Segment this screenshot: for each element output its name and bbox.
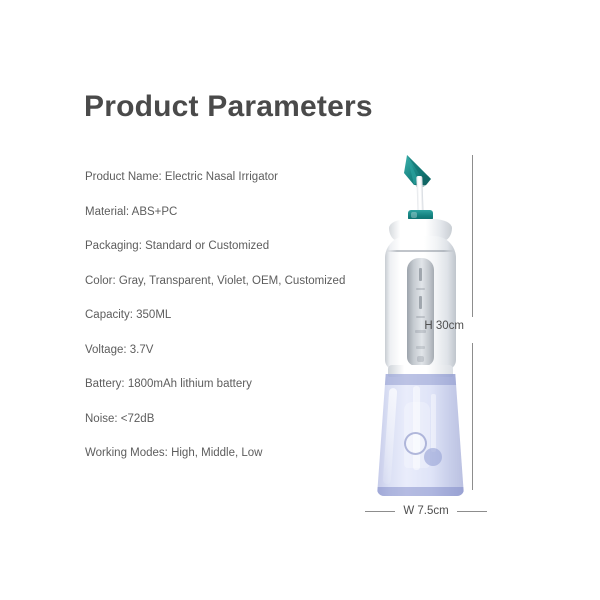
dimension-height-line-top xyxy=(472,155,473,317)
dimension-width: W 7.5cm xyxy=(365,511,487,512)
dimension-width-line-right xyxy=(457,511,487,512)
tank-float-stem xyxy=(431,394,436,452)
tank-highlight xyxy=(383,388,398,484)
tank-float xyxy=(424,448,442,466)
panel-indicator-2 xyxy=(419,296,422,309)
panel-indicator-1 xyxy=(419,268,422,281)
handle-seam-line xyxy=(387,250,454,252)
power-button-icon xyxy=(417,356,424,362)
panel-indicator-3 xyxy=(416,288,425,290)
control-panel xyxy=(407,258,434,366)
panel-indicator-6 xyxy=(416,346,425,349)
page-title: Product Parameters xyxy=(84,90,373,124)
tank-top-band xyxy=(377,374,464,385)
water-tank xyxy=(377,374,464,496)
dimension-width-label: W 7.5cm xyxy=(403,505,448,517)
product-parameters-page: Product Parameters Product Name: Electri… xyxy=(0,0,600,600)
dimension-height-line-bottom xyxy=(472,343,473,490)
tank-valve-ring xyxy=(404,432,427,455)
tank-inner-tube xyxy=(413,386,420,470)
dimension-height-label: H 30cm xyxy=(424,320,466,332)
dimension-width-line-left xyxy=(365,511,395,512)
panel-indicator-4 xyxy=(416,316,425,318)
dimension-height xyxy=(472,155,473,490)
tank-bottom-band xyxy=(377,487,464,496)
